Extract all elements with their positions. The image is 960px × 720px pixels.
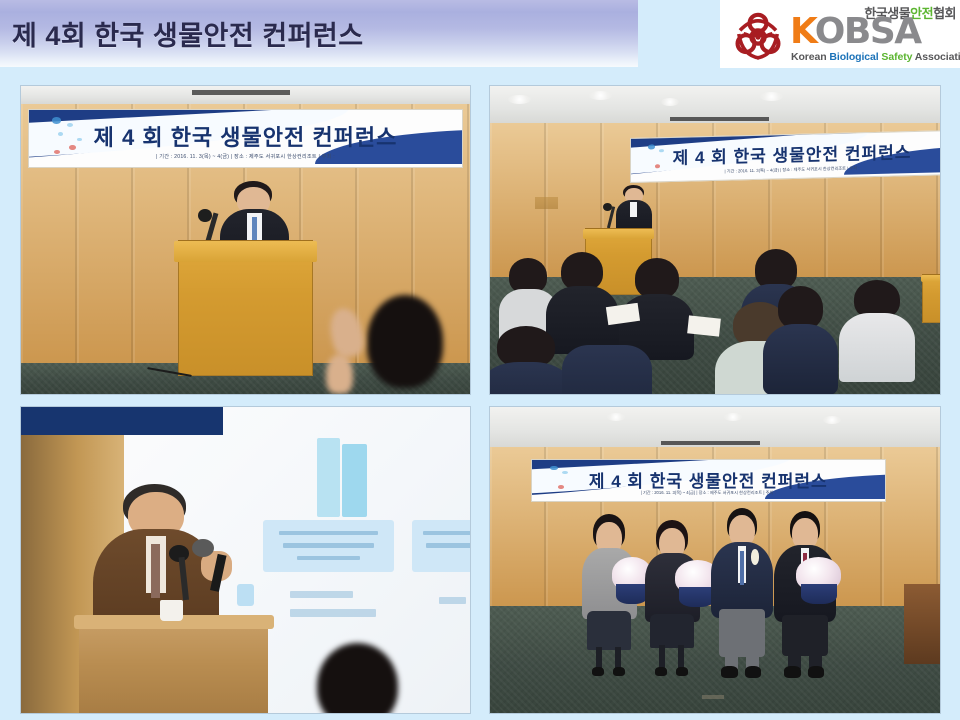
logo-kr-part3: 협회: [933, 6, 956, 21]
presentation-slide: 제 4회 한국 생물안전 컨퍼런스 한국생물안전협회: [0, 0, 960, 720]
slide-caption-line: [439, 597, 466, 605]
ceiling-light: [607, 413, 625, 421]
microphone-head: [603, 203, 612, 211]
side-furniture: [904, 584, 940, 664]
page-title: 제 4회 한국 생물안전 컨퍼런스: [12, 14, 364, 53]
handout-paper: [687, 315, 720, 337]
logo-wordmark-k: K: [790, 11, 815, 52]
slide-text-box-1: [263, 520, 393, 572]
logo-en-w1: Korean: [791, 51, 827, 63]
corsage: [751, 549, 760, 564]
photo-award-group-portrait: 제 4 회 한국 생물안전 컨퍼런스 | 기간 : 2016. 11. 3(목)…: [490, 407, 940, 713]
banner-subtitle: | 기간 : 2016. 11. 3(목) ~ 4(금) | 장소 : 제주도 …: [29, 153, 463, 160]
stage-speaker-person: [616, 185, 652, 234]
banner-title: 제 4 회 한국 생물안전 컨퍼런스: [29, 120, 463, 152]
banner-subtitle: | 기간 : 2016. 11. 3(목) ~ 4(금) | 장소 : 제주도 …: [532, 490, 886, 496]
ceiling-vent: [670, 117, 769, 121]
ceiling-light: [589, 91, 612, 100]
flower-bouquet: [796, 557, 841, 591]
banner-strip: [21, 407, 223, 435]
audience-person-front: [490, 326, 562, 394]
paper-cup: [160, 600, 182, 621]
audience-person-front: [562, 345, 652, 394]
handheld-microphone-head: [192, 539, 214, 557]
microphone-head: [198, 209, 211, 222]
ceiling-vent: [661, 441, 760, 445]
logo-en-w2: Biological: [829, 51, 878, 63]
podium: [178, 240, 313, 376]
slide-caption-line: [290, 609, 375, 617]
photo-audience-wide-view: 제 4 회 한국 생물안전 컨퍼런스 | 기간 : 2016. 11. 3(목)…: [490, 86, 940, 394]
podium: [79, 615, 268, 713]
logo-en-w4: Association: [915, 51, 960, 63]
foreground-audience-head: [367, 295, 443, 387]
slide-caption-line: [290, 591, 353, 599]
awardee-person-3: [715, 508, 769, 679]
wall-sign: [535, 197, 558, 209]
audience-person: [846, 280, 909, 372]
slide-bar-left: [317, 438, 339, 518]
logo-wordmark: KOBSA: [790, 14, 921, 50]
ceiling-light: [724, 413, 742, 421]
logo-en-w3: Safety: [881, 51, 912, 63]
event-banner: 제 4 회 한국 생물안전 컨퍼런스 | 기간 : 2016. 11. 3(목)…: [531, 459, 887, 502]
audience-person-front: [769, 286, 832, 385]
ceiling-vent: [192, 90, 291, 95]
event-banner: 제 4 회 한국 생물안전 컨퍼런스 | 기간 : 2016. 11. 3(목)…: [28, 109, 464, 168]
slide-text-box-2: [412, 520, 470, 572]
kobsa-logo: 한국생물안전협회 KOBSA Korean Biological Safety …: [720, 0, 960, 68]
slide-bar-right: [342, 444, 367, 517]
side-podium: [922, 274, 940, 323]
floor-marker: [702, 695, 725, 699]
banner-title: 제 4 회 한국 생물안전 컨퍼런스: [532, 467, 886, 492]
foreground-audience-hand-2: [326, 354, 353, 394]
slide-marker: [237, 584, 255, 605]
biohazard-icon: [728, 4, 788, 64]
photo-speaker-with-microphone: 기간 : 2016.: [21, 407, 470, 713]
event-banner: 제 4 회 한국 생물안전 컨퍼런스 | 기간 : 2016. 11. 3(목)…: [630, 130, 941, 183]
logo-wordmark-rest: OBSA: [815, 11, 921, 52]
photo-opening-speech-podium: 제 4 회 한국 생물안전 컨퍼런스 | 기간 : 2016. 11. 3(목)…: [21, 86, 470, 394]
handout-paper: [606, 303, 640, 326]
logo-english-name: Korean Biological Safety Association: [791, 51, 960, 63]
